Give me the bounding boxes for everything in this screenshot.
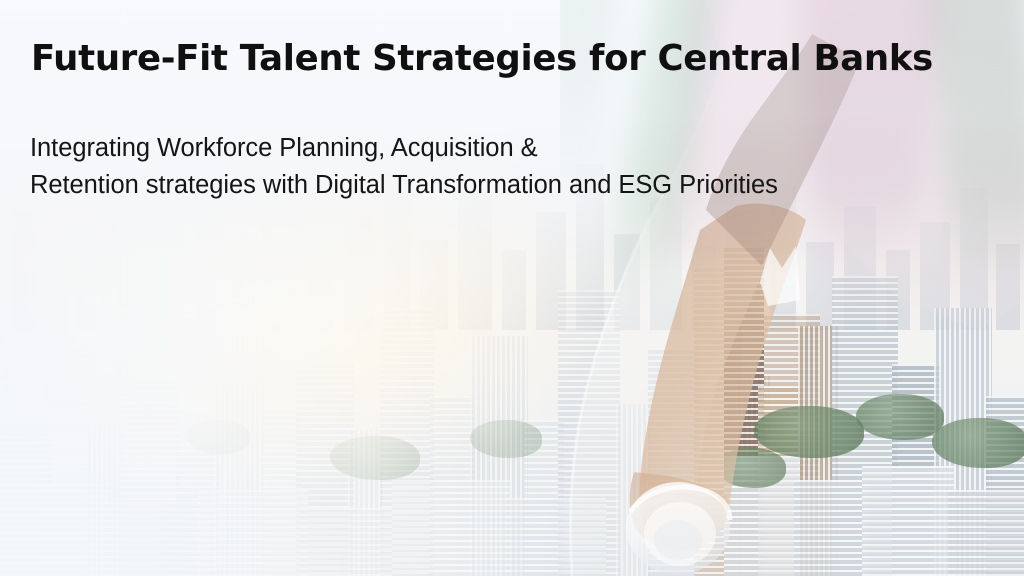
slide-subtitle: Integrating Workforce Planning, Acquisit… <box>30 130 778 204</box>
page-title: Future-Fit Talent Strategies for Central… <box>31 38 933 80</box>
title-slide: Future-Fit Talent Strategies for Central… <box>0 0 1024 576</box>
subtitle-line-1: Integrating Workforce Planning, Acquisit… <box>30 130 778 167</box>
subtitle-line-2: Retention strategies with Digital Transf… <box>30 167 778 204</box>
